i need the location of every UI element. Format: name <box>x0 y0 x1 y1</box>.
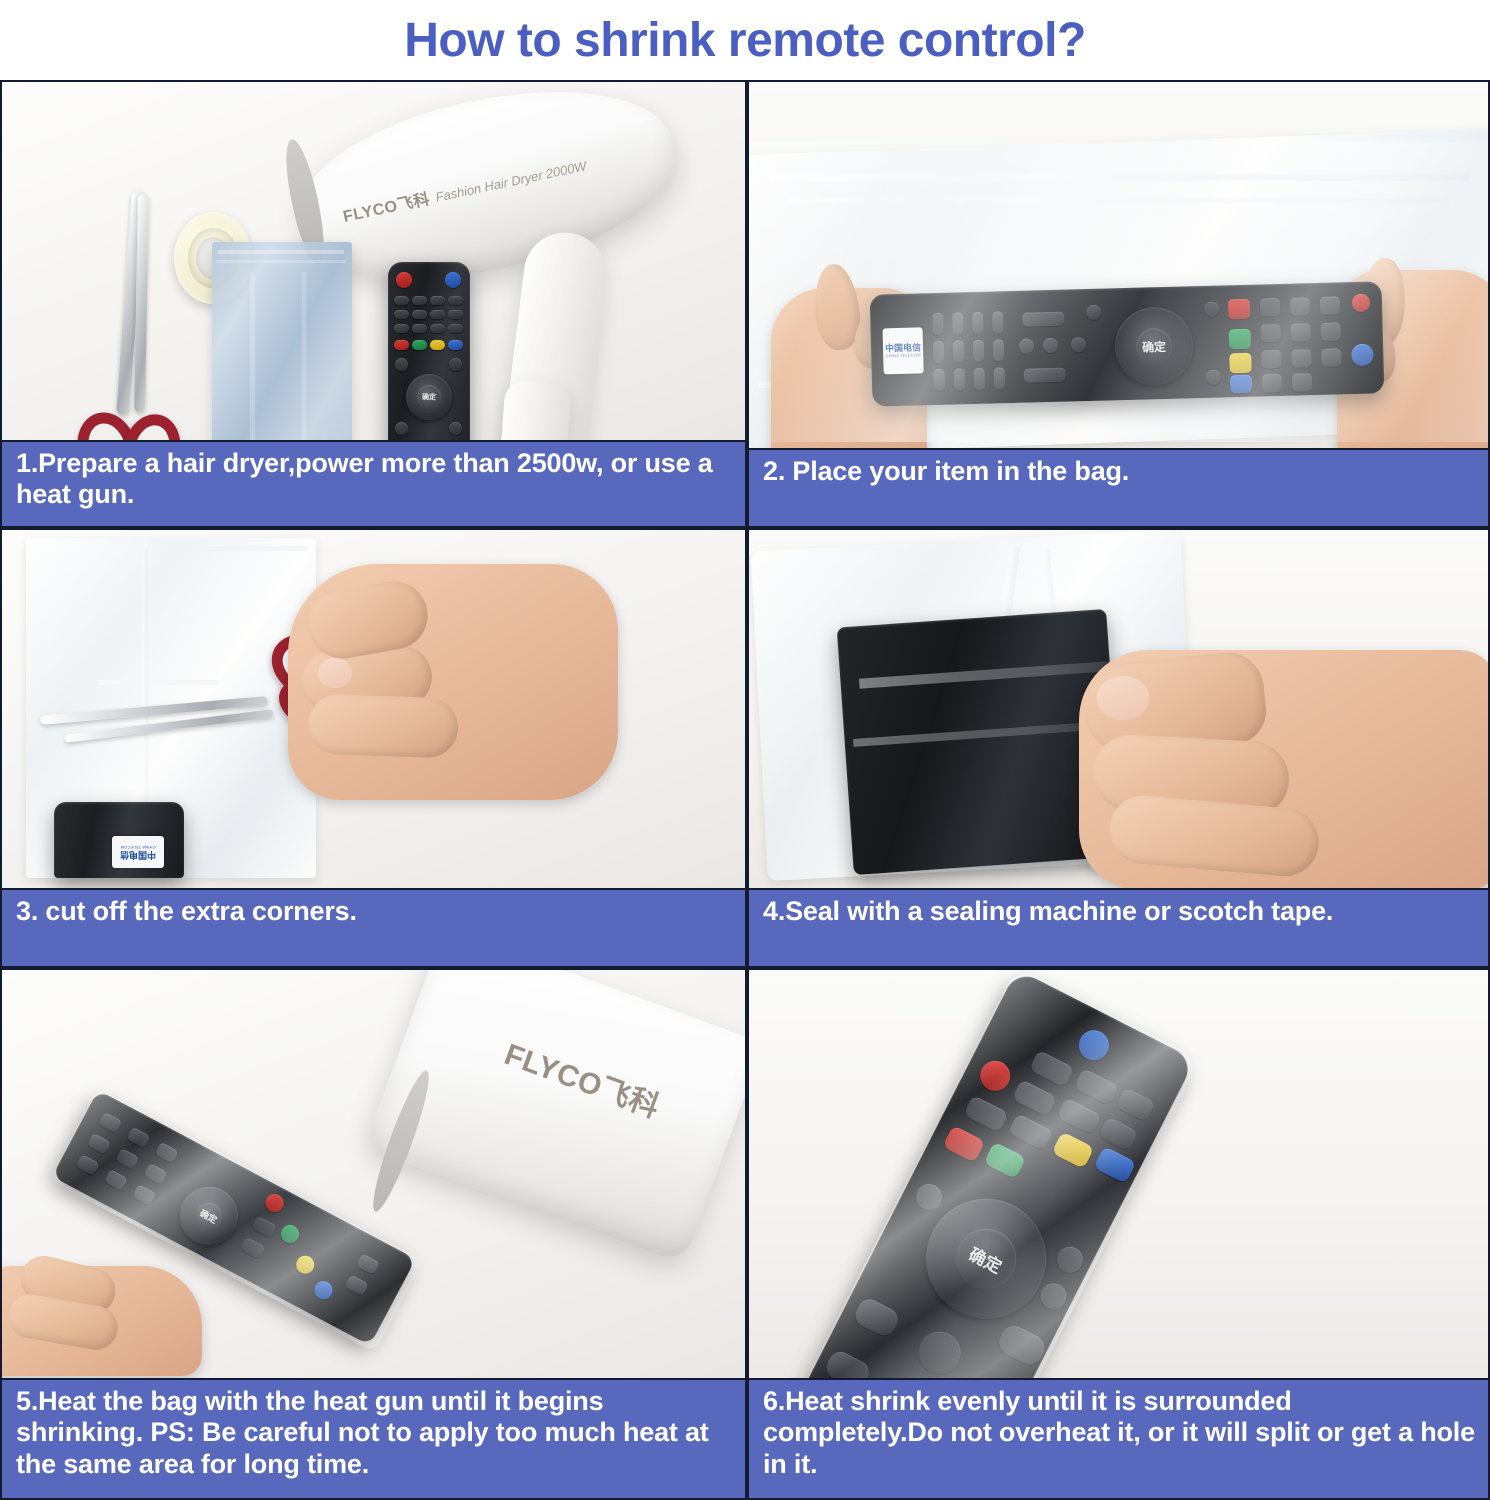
step-4-caption: 4.Seal with a sealing machine or scotch … <box>749 888 1488 966</box>
step-1-caption: 1.Prepare a hair dryer,power more than 2… <box>2 440 745 526</box>
step-panel-2: 中国电信 CHINA TELECOM <box>747 80 1490 528</box>
step-2-photo: 中国电信 CHINA TELECOM <box>749 82 1488 448</box>
step-6-caption: 6.Heat shrink evenly until it is surroun… <box>749 1378 1488 1498</box>
power-button <box>1074 1025 1114 1065</box>
remote-control: 中国电信 CHINA TELECOM <box>54 802 184 878</box>
infographic-page: How to shrink remote control? FLYCO飞科 Fa… <box>0 0 1490 1500</box>
mute-button <box>975 1056 1015 1096</box>
step-panel-3: 中国电信 CHINA TELECOM 3. cut off the extra … <box>0 528 747 968</box>
page-title-bar: How to shrink remote control? <box>0 0 1490 80</box>
page-title: How to shrink remote control? <box>404 13 1086 68</box>
step-5-caption: 5.Heat the bag with the heat gun until i… <box>2 1378 745 1498</box>
remote-control: 中国电信 CHINA TELECOM <box>870 281 1385 406</box>
china-telecom-label: 中国电信 CHINA TELECOM <box>883 327 924 374</box>
step-4-photo <box>749 530 1488 888</box>
step-panel-6: 确定 6 <box>747 968 1490 1500</box>
step-3-photo: 中国电信 CHINA TELECOM <box>2 530 745 888</box>
page-up-button <box>911 1324 967 1378</box>
step-5-photo: FLYCO飞科 确定 <box>2 970 745 1378</box>
step-2-caption: 2. Place your item in the bag. <box>749 448 1488 526</box>
step-6-photo: 确定 <box>749 970 1488 1378</box>
right-hand-finger-2 <box>307 693 459 758</box>
remote-control: 确定 <box>388 262 470 440</box>
step-panel-1: FLYCO飞科 Fashion Hair Dryer 2000W <box>0 80 747 528</box>
step-panel-4: 4.Seal with a sealing machine or scotch … <box>747 528 1490 968</box>
ok-button: 确定 <box>417 385 441 409</box>
steps-grid: FLYCO飞科 Fashion Hair Dryer 2000W <box>0 80 1490 1500</box>
step-panel-5: FLYCO飞科 确定 <box>0 968 747 1500</box>
china-telecom-label: 中国电信 CHINA TELECOM <box>112 836 164 868</box>
step-1-photo: FLYCO飞科 Fashion Hair Dryer 2000W <box>2 82 745 440</box>
shrink-bag <box>212 242 352 440</box>
step-3-caption: 3. cut off the extra corners. <box>2 888 745 966</box>
